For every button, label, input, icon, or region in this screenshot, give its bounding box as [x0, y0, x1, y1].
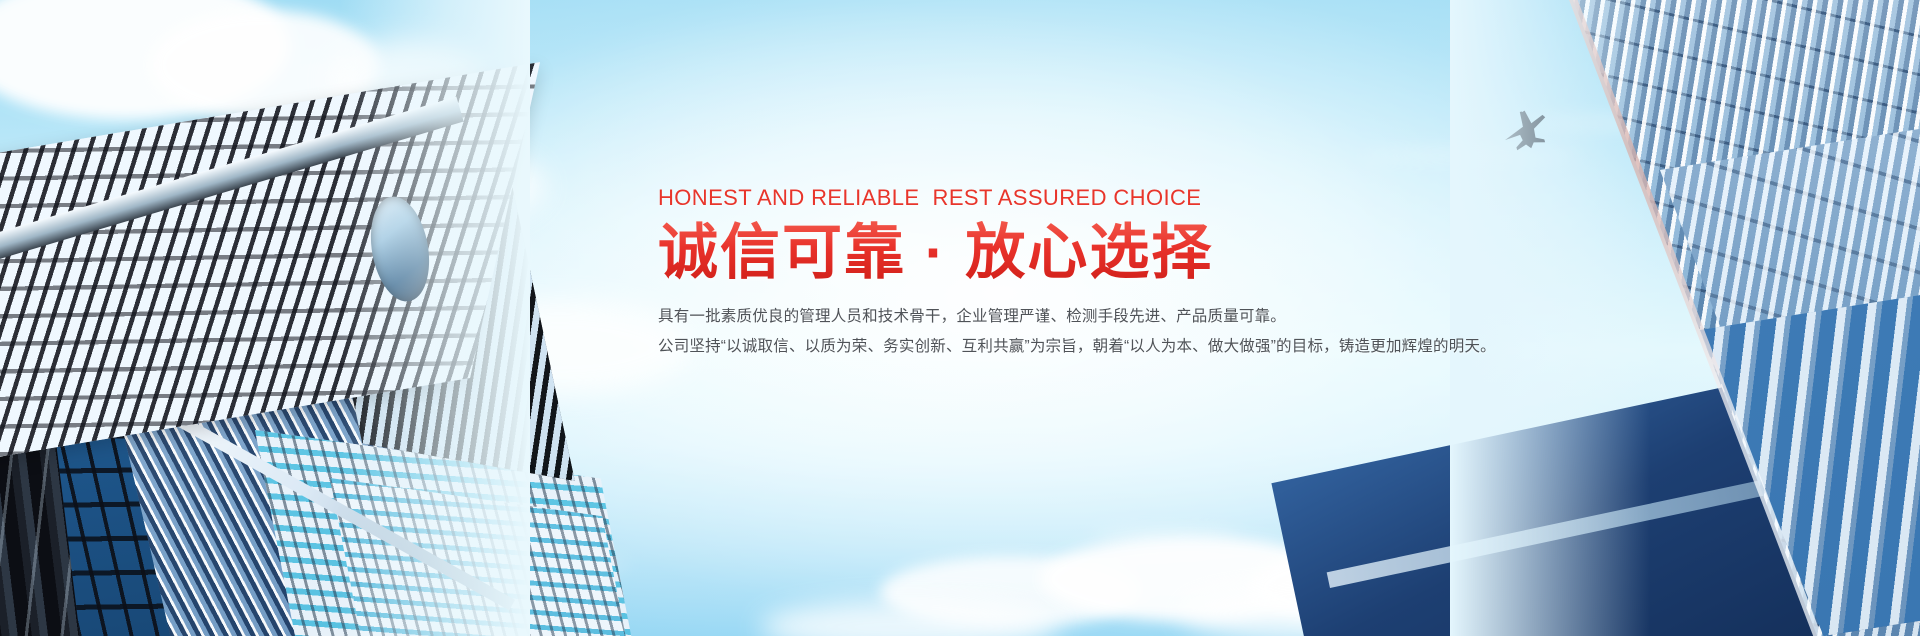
- hero-banner: HONEST AND RELIABLE REST ASSURED CHOICE …: [0, 0, 1920, 636]
- banner-eyebrow-english: HONEST AND RELIABLE REST ASSURED CHOICE: [658, 185, 1478, 211]
- left-edge-fade: [340, 0, 530, 636]
- left-building-cluster: [0, 0, 530, 636]
- banner-copy-block: HONEST AND RELIABLE REST ASSURED CHOICE …: [658, 185, 1478, 363]
- banner-headline: 诚信可靠 · 放心选择: [658, 221, 1478, 286]
- banner-subline-1: 具有一批素质优良的管理人员和技术骨干，企业管理严谨、检测手段先进、产品质量可靠。: [658, 302, 1478, 332]
- right-building-cluster: [1450, 0, 1920, 636]
- banner-subline-2: 公司坚持“以诚取信、以质为荣、务实创新、互利共赢”为宗旨，朝着“以人为本、做大做…: [658, 332, 1478, 362]
- cloud-wisp: [1090, 530, 1240, 538]
- right-edge-fade: [1450, 0, 1650, 636]
